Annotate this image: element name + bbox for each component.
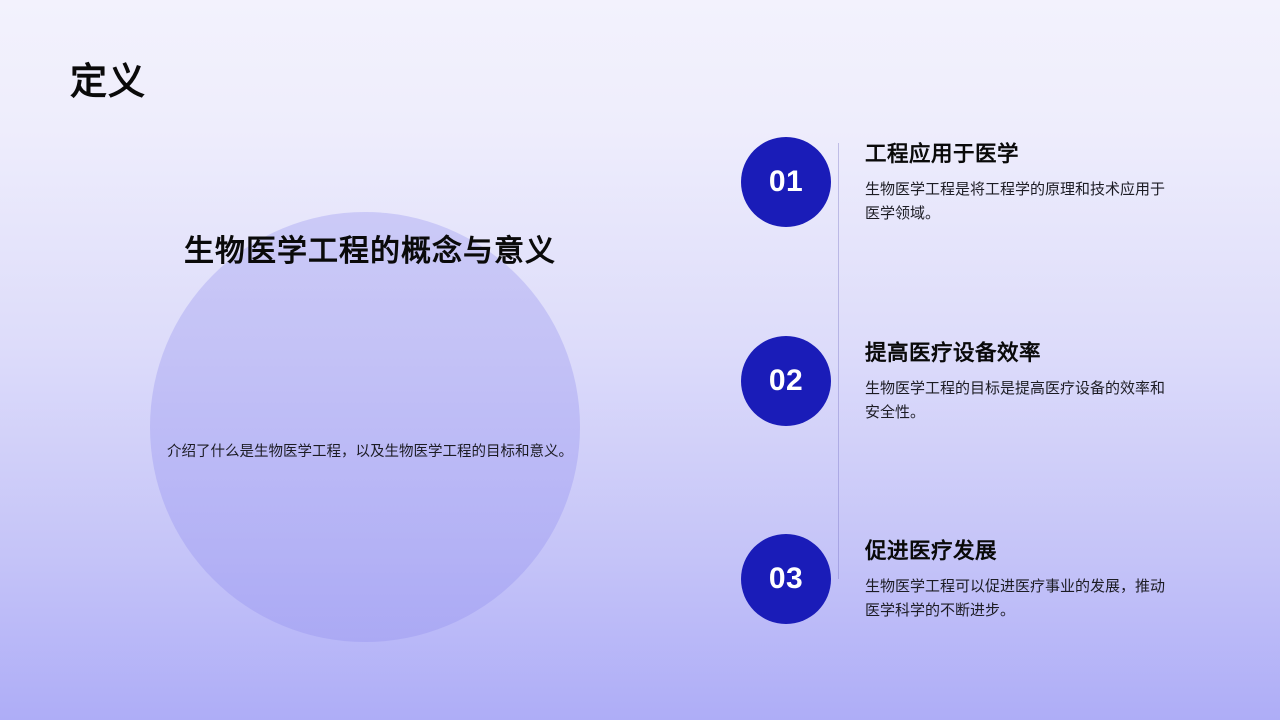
left-subtext: 介绍了什么是生物医学工程，以及生物医学工程的目标和意义。 [60,441,680,464]
page-title: 定义 [70,60,146,104]
slide-canvas: 定义 生物医学工程的概念与意义 介绍了什么是生物医学工程，以及生物医学工程的目标… [0,0,1280,720]
list-item-description: 生物医学工程可以促进医疗事业的发展，推动医学科学的不断进步。 [865,575,1165,624]
number-badge: 01 [741,137,831,227]
list-item-description: 生物医学工程是将工程学的原理和技术应用于医学领域。 [865,178,1165,227]
list-item[interactable]: 03 促进医疗发展 生物医学工程可以促进医疗事业的发展，推动医学科学的不断进步。 [741,534,1171,624]
list-item[interactable]: 01 工程应用于医学 生物医学工程是将工程学的原理和技术应用于医学领域。 [741,137,1171,227]
list-item-title: 促进医疗发展 [865,538,1165,566]
number-badge: 02 [741,336,831,426]
list-item-title: 提高医疗设备效率 [865,340,1165,368]
list-item-text: 促进医疗发展 生物医学工程可以促进医疗事业的发展，推动医学科学的不断进步。 [865,534,1165,624]
left-panel: 生物医学工程的概念与意义 [60,232,680,273]
left-heading: 生物医学工程的概念与意义 [60,232,680,273]
list-item-description: 生物医学工程的目标是提高医疗设备的效率和安全性。 [865,377,1165,426]
number-badge: 03 [741,534,831,624]
list-item-text: 提高医疗设备效率 生物医学工程的目标是提高医疗设备的效率和安全性。 [865,336,1165,426]
decorative-circle [150,212,580,642]
list-item-title: 工程应用于医学 [865,141,1165,169]
list-item[interactable]: 02 提高医疗设备效率 生物医学工程的目标是提高医疗设备的效率和安全性。 [741,336,1171,426]
list-item-text: 工程应用于医学 生物医学工程是将工程学的原理和技术应用于医学领域。 [865,137,1165,227]
